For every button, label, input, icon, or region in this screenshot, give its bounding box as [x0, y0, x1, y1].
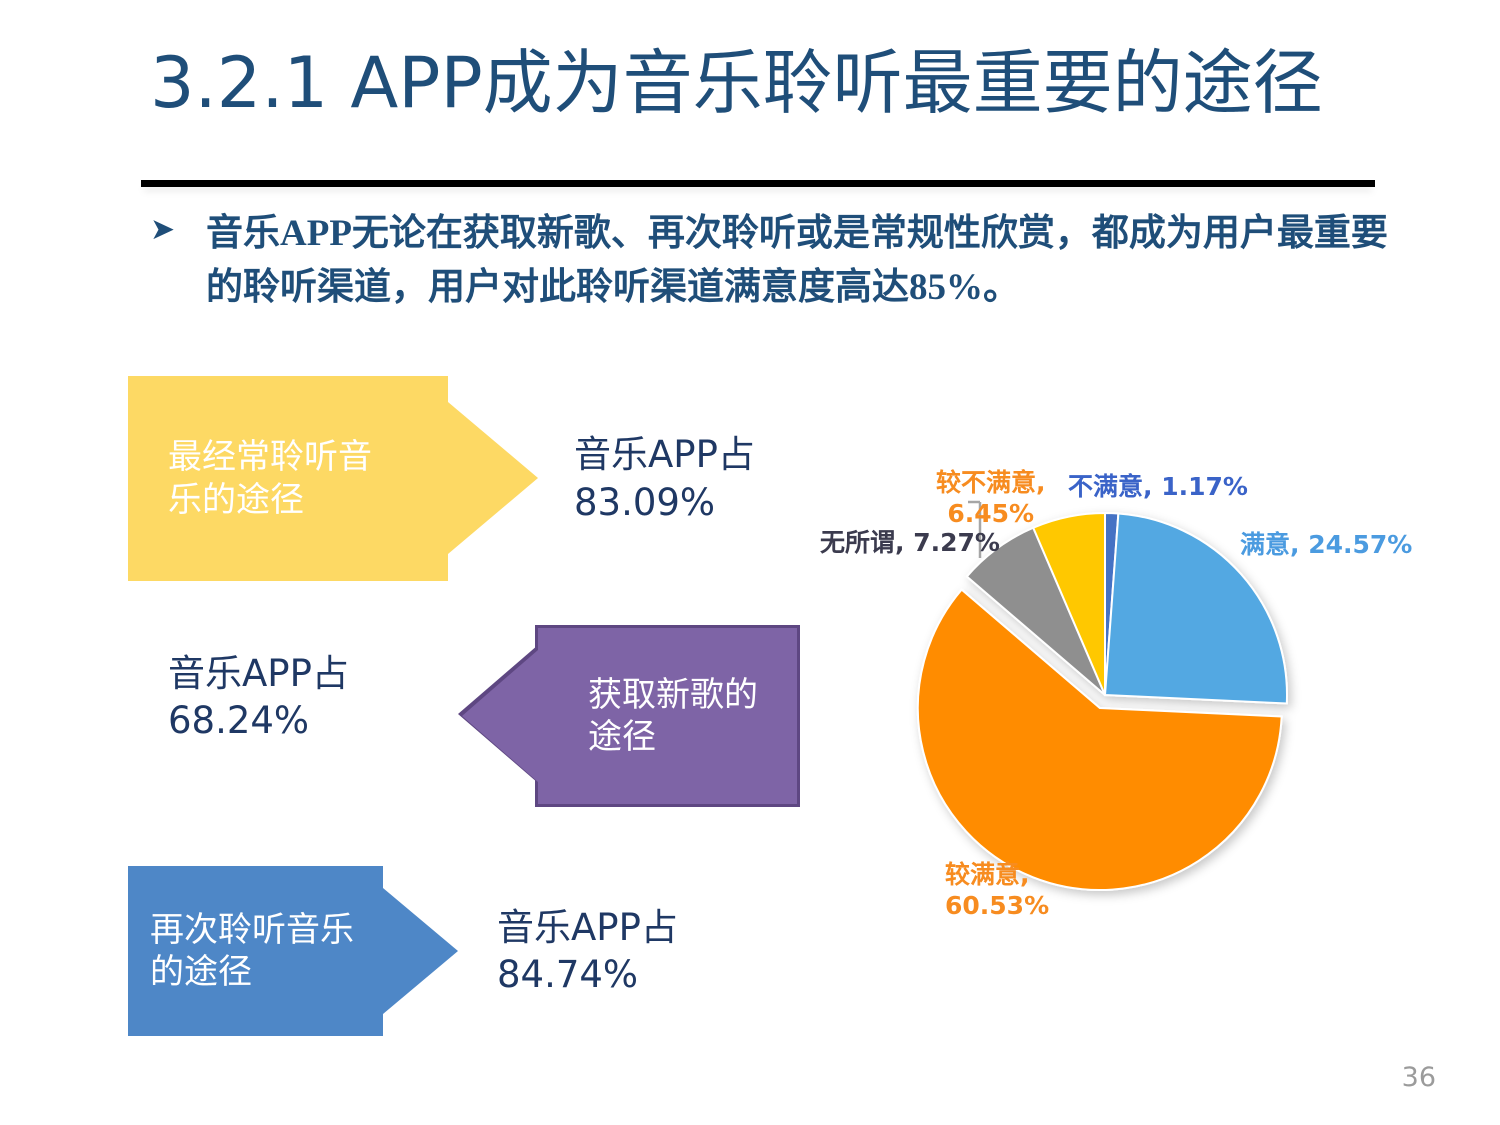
pie-label-somewhat-dissatisfied-line2: 6.45% — [936, 499, 1046, 530]
pie-label-dissatisfied: 不满意, 1.17% — [1068, 472, 1248, 503]
pie-label-dissatisfied-text: 不满意, 1.17% — [1068, 472, 1248, 501]
pie-label-somewhat-satisfied: 较满意, 60.53% — [945, 860, 1049, 921]
pie-svg — [800, 440, 1440, 980]
callout-label-purple: 获取新歌的途径 — [588, 674, 783, 759]
callout-stat-purple-line2: 68.24% — [168, 697, 349, 744]
arrow-shape-blue[interactable]: 再次聆听音乐 的途径 — [128, 866, 383, 1036]
page-title: 3.2.1 APP成为音乐聆听最重要的途径 — [150, 44, 1380, 122]
arrow-shape-purple[interactable]: 获取新歌的途径 — [535, 625, 800, 807]
title-divider — [141, 180, 1375, 187]
pie-label-somewhat-satisfied-line1: 较满意, — [945, 860, 1049, 891]
callout-replay-channel[interactable]: 再次聆听音乐 的途径 音乐APP占 84.74% — [128, 866, 678, 1036]
callout-stat-blue-line1: 音乐APP占 — [497, 904, 678, 951]
satisfaction-pie-chart: 满意, 24.57% 不满意, 1.17% 较不满意, 6.45% 无所谓, 7… — [800, 440, 1440, 980]
callout-label-yellow: 最经常聆听音 乐的途径 — [168, 436, 372, 521]
callout-stat-yellow-line1: 音乐APP占 — [574, 431, 755, 478]
callout-most-frequent-channel[interactable]: 最经常聆听音 乐的途径 音乐APP占 83.09% — [128, 376, 755, 581]
pie-label-somewhat-satisfied-line2: 60.53% — [945, 891, 1049, 922]
callout-label-yellow-line2: 乐的途径 — [168, 479, 372, 522]
bullet-arrow-icon: ➤ — [150, 207, 206, 245]
callout-label-blue-line2: 的途径 — [150, 951, 354, 994]
pie-label-somewhat-dissatisfied: 较不满意, 6.45% — [936, 468, 1046, 529]
callout-stat-purple: 音乐APP占 68.24% — [168, 650, 349, 745]
pie-label-somewhat-dissatisfied-line1: 较不满意, — [936, 468, 1046, 499]
callout-stat-blue: 音乐APP占 84.74% — [497, 904, 678, 999]
pie-label-satisfied: 满意, 24.57% — [1240, 530, 1412, 561]
bullet-text: 音乐APP无论在获取新歌、再次聆听或是常规性欣赏，都成为用户最重要的聆听渠道，用… — [206, 207, 1390, 314]
pie-label-neutral-text: 无所谓, 7.27% — [820, 528, 1000, 557]
callout-label-blue: 再次聆听音乐 的途径 — [150, 909, 354, 994]
callout-new-song-channel[interactable]: 获取新歌的途径 — [460, 625, 800, 807]
callout-stat-yellow: 音乐APP占 83.09% — [574, 431, 755, 526]
bullet-row: ➤ 音乐APP无论在获取新歌、再次聆听或是常规性欣赏，都成为用户最重要的聆听渠道… — [150, 207, 1390, 314]
callout-stat-yellow-line2: 83.09% — [574, 479, 755, 526]
callout-label-blue-line1: 再次聆听音乐 — [150, 909, 354, 952]
pie-canvas — [800, 440, 1440, 980]
page-number: 36 — [1402, 1062, 1436, 1093]
pie-label-neutral: 无所谓, 7.27% — [820, 528, 1000, 559]
slide-canvas: 3.2.1 APP成为音乐聆听最重要的途径 ➤ 音乐APP无论在获取新歌、再次聆… — [0, 0, 1500, 1125]
callout-stat-purple-line1: 音乐APP占 — [168, 650, 349, 697]
pie-label-satisfied-text: 满意, 24.57% — [1240, 530, 1412, 559]
arrow-shape-yellow[interactable]: 最经常聆听音 乐的途径 — [128, 376, 448, 581]
callout-label-yellow-line1: 最经常聆听音 — [168, 436, 372, 479]
callout-stat-blue-line2: 84.74% — [497, 951, 678, 998]
